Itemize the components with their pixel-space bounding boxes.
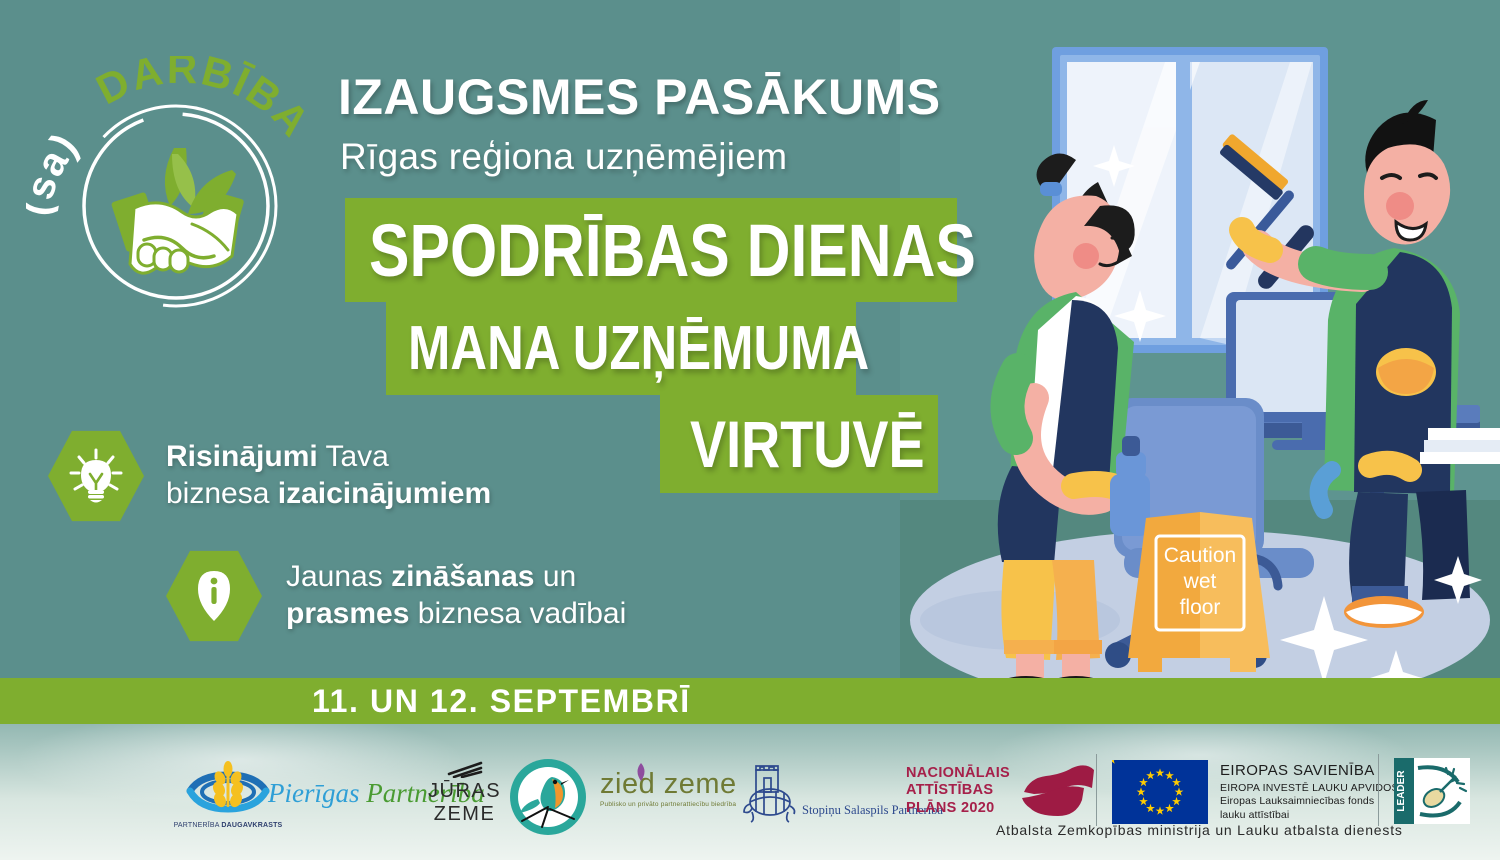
title-band-1: SPODRĪBAS DIENAS bbox=[345, 198, 957, 302]
title-band-1-text: SPODRĪBAS DIENAS bbox=[369, 208, 976, 293]
event-date: 11. UN 12. SEPTEMBRĪ bbox=[312, 683, 691, 720]
latvia-map-icon bbox=[1018, 762, 1096, 820]
footer-divider-right bbox=[1378, 754, 1379, 826]
info-pin-icon bbox=[166, 548, 262, 644]
eu-line-2: Eiropas Lauksaimniecības fonds bbox=[1220, 795, 1399, 809]
poster-canvas: Caution wet floor (sa) DARBĪBA bbox=[0, 0, 1500, 860]
leaf-icon bbox=[634, 762, 648, 784]
wheat-circle-icon bbox=[182, 761, 274, 819]
benefit-2-plain-3: biznesa vadībai bbox=[409, 597, 626, 630]
eu-title: EIROPAS SAVIENĪBA bbox=[1220, 762, 1399, 779]
benefit-1-plain-1: Tava bbox=[318, 440, 389, 473]
svg-text:(sa): (sa) bbox=[26, 124, 87, 219]
logo-partneriba-daugavkrasts-label: PARTNERĪBA DAUGAVKRASTS bbox=[174, 822, 283, 829]
title-band-2-text: MANA UZŅĒMUMA bbox=[408, 313, 869, 384]
benefit-item-solutions-text: Risinājumi Tava biznesa izaicinājumiem bbox=[166, 439, 491, 512]
cleaning-illustration: Caution wet floor bbox=[900, 0, 1500, 700]
benefit-2-bold-2: prasmes bbox=[286, 597, 409, 630]
eu-line-3: lauku attīstībai bbox=[1220, 809, 1399, 823]
footer-logos: PARTNERĪBA DAUGAVKRASTS Pierīgas Partner… bbox=[0, 748, 1500, 860]
caution-line-1: Caution bbox=[1164, 544, 1236, 567]
benefit-item-knowledge: Jaunas zināšanas un prasmes biznesa vadī… bbox=[166, 548, 626, 644]
logo-zied-zeme[interactable]: zied zeme Publisko un privāto partneratt… bbox=[600, 768, 737, 808]
date-band: 11. UN 12. SEPTEMBRĪ bbox=[0, 678, 1500, 724]
logo-juras-zeme[interactable]: JŪRAS ZEME bbox=[428, 760, 501, 826]
title-band-2: MANA UZŅĒMUMA bbox=[386, 302, 856, 395]
title-band-3-text: VIRTUVĒ bbox=[690, 406, 925, 482]
waves-icon bbox=[445, 760, 485, 778]
leader-icon: LEADER bbox=[1394, 758, 1470, 824]
logo-partneriba-daugavkrasts[interactable]: PARTNERĪBA DAUGAVKRASTS bbox=[178, 758, 278, 832]
title-band-3: VIRTUVĒ bbox=[660, 395, 938, 493]
logo-zied-zeme-title: zied zeme bbox=[600, 768, 737, 801]
logo-leader[interactable]: LEADER bbox=[1394, 758, 1470, 824]
benefit-1-plain-2: biznesa bbox=[166, 477, 278, 510]
logo-eu-flag[interactable]: EIROPAS SAVIENĪBA EIROPA INVESTĒ LAUKU A… bbox=[1112, 760, 1399, 824]
benefit-item-solutions: Risinājumi Tava biznesa izaicinājumiem bbox=[48, 428, 491, 524]
logo-bird-partneriba[interactable] bbox=[508, 757, 588, 837]
benefit-1-bold-1: Risinājumi bbox=[166, 440, 318, 473]
turtle-castle-icon bbox=[742, 760, 798, 824]
footer-support-note: Atbalsta Zemkopības ministrija un Lauku … bbox=[996, 822, 1403, 838]
benefit-item-knowledge-text: Jaunas zināšanas un prasmes biznesa vadī… bbox=[286, 559, 626, 632]
eu-line-1: EIROPA INVESTĒ LAUKU APVIDOS bbox=[1220, 782, 1399, 796]
lightbulb-icon bbox=[48, 428, 144, 524]
benefit-2-bold-1: zināšanas bbox=[391, 560, 534, 593]
logo-prefix: (sa) bbox=[26, 124, 87, 219]
benefit-1-bold-2: izaicinājumiem bbox=[278, 477, 491, 510]
svg-text:DARBĪBA: DARBĪBA bbox=[89, 56, 320, 146]
logo-nacionalais-attistibas-plans[interactable]: NACIONĀLAIS ATTĪSTĪBAS PLĀNS 2020 bbox=[906, 762, 1096, 820]
logo-zied-zeme-subtitle: Publisko un privāto partnerattiecību bie… bbox=[600, 801, 736, 808]
logo-word: DARBĪBA bbox=[89, 56, 320, 146]
benefit-2-plain-2: un bbox=[535, 560, 577, 593]
caution-line-3: floor bbox=[1180, 596, 1221, 619]
logo-juras-zeme-label: JŪRAS ZEME bbox=[428, 780, 501, 826]
eu-flag-icon bbox=[1112, 760, 1208, 824]
page-subtitle: Rīgas reģiona uzņēmējiem bbox=[340, 136, 787, 178]
caution-line-2: wet bbox=[1183, 570, 1217, 593]
benefit-2-plain-1: Jaunas bbox=[286, 560, 391, 593]
logo-nap-label: NACIONĀLAIS ATTĪSTĪBAS PLĀNS 2020 bbox=[906, 765, 1010, 817]
bird-circle-icon bbox=[508, 757, 588, 837]
leader-label: LEADER bbox=[1396, 770, 1407, 812]
page-title: IZAUGSMES PASĀKUMS bbox=[338, 68, 941, 126]
footer-divider-left bbox=[1096, 754, 1097, 826]
sadarbiba-logo[interactable]: (sa) DARBĪBA bbox=[26, 56, 326, 321]
